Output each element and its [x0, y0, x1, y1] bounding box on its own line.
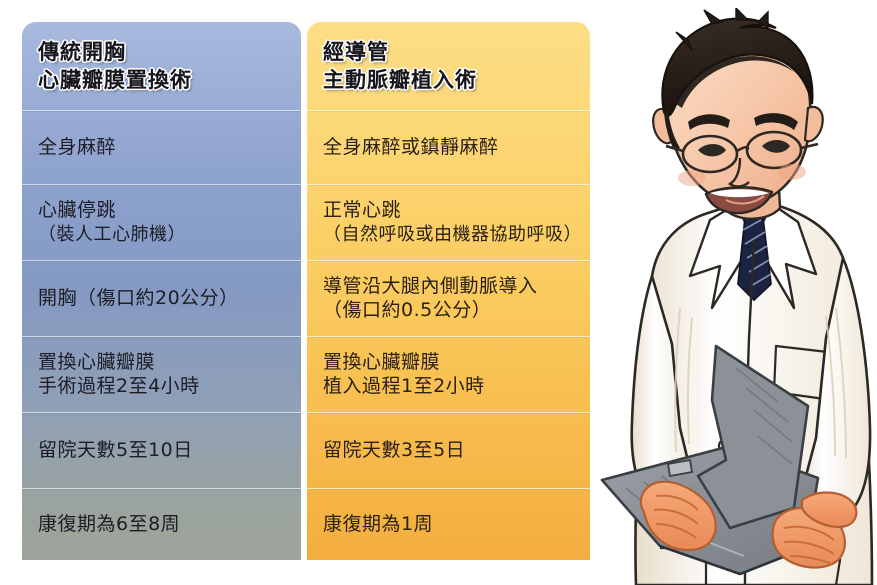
table-row: 留院天數5至10日 — [22, 412, 301, 488]
cell-line-1: 全身麻醉或鎮靜麻醉 — [323, 135, 574, 159]
cell-line-2: 植入過程1至2小時 — [323, 374, 574, 398]
cell-line-1: 全身麻醉 — [38, 135, 285, 159]
doctor-illustration — [540, 8, 877, 585]
doctor-head — [653, 8, 822, 219]
table-row: 開胸（傷口約20公分） — [22, 260, 301, 336]
comparison-table: 傳統開胸 心臟瓣膜置換術 全身麻醉 心臟停跳 （裝人工心肺機） 開胸（傷口約20… — [22, 22, 590, 560]
cell-line-1: 康復期為1周 — [323, 512, 574, 536]
column-conventional: 傳統開胸 心臟瓣膜置換術 全身麻醉 心臟停跳 （裝人工心肺機） 開胸（傷口約20… — [22, 22, 301, 560]
cell-line-1: 開胸（傷口約20公分） — [38, 286, 285, 310]
header-line-1: 經導管 — [323, 38, 574, 66]
table-row: 置換心臟瓣膜 手術過程2至4小時 — [22, 336, 301, 412]
cell-line-1: 留院天數3至5日 — [323, 438, 574, 462]
cell-line-1: 留院天數5至10日 — [38, 438, 285, 462]
cell-line-1: 康復期為6至8周 — [38, 512, 285, 536]
cell-line-1: 導管沿大腿內側動脈導入 — [323, 274, 574, 298]
cell-line-1: 置換心臟瓣膜 — [323, 350, 574, 374]
cell-line-2: （傷口約0.5公分） — [323, 298, 574, 322]
header-line-1: 傳統開胸 — [38, 38, 285, 66]
header-line-2: 心臟瓣膜置換術 — [38, 66, 285, 94]
cell-line-2: （自然呼吸或由機器協助呼吸） — [323, 223, 574, 246]
cell-line-1: 心臟停跳 — [38, 198, 285, 222]
table-row: 全身麻醉 — [22, 110, 301, 184]
cell-line-2: （裝人工心肺機） — [38, 223, 285, 246]
ear — [805, 107, 823, 141]
infographic-root: 傳統開胸 心臟瓣膜置換術 全身麻醉 心臟停跳 （裝人工心肺機） 開胸（傷口約20… — [0, 0, 877, 585]
cell-line-1: 置換心臟瓣膜 — [38, 350, 285, 374]
header-line-2: 主動脈瓣植入術 — [323, 66, 574, 94]
cell-line-2: 手術過程2至4小時 — [38, 374, 285, 398]
table-row: 心臟停跳 （裝人工心肺機） — [22, 184, 301, 260]
cell-line-1: 正常心跳 — [323, 198, 574, 222]
table-row: 康復期為6至8周 — [22, 488, 301, 560]
column-header-conventional: 傳統開胸 心臟瓣膜置換術 — [22, 22, 301, 110]
